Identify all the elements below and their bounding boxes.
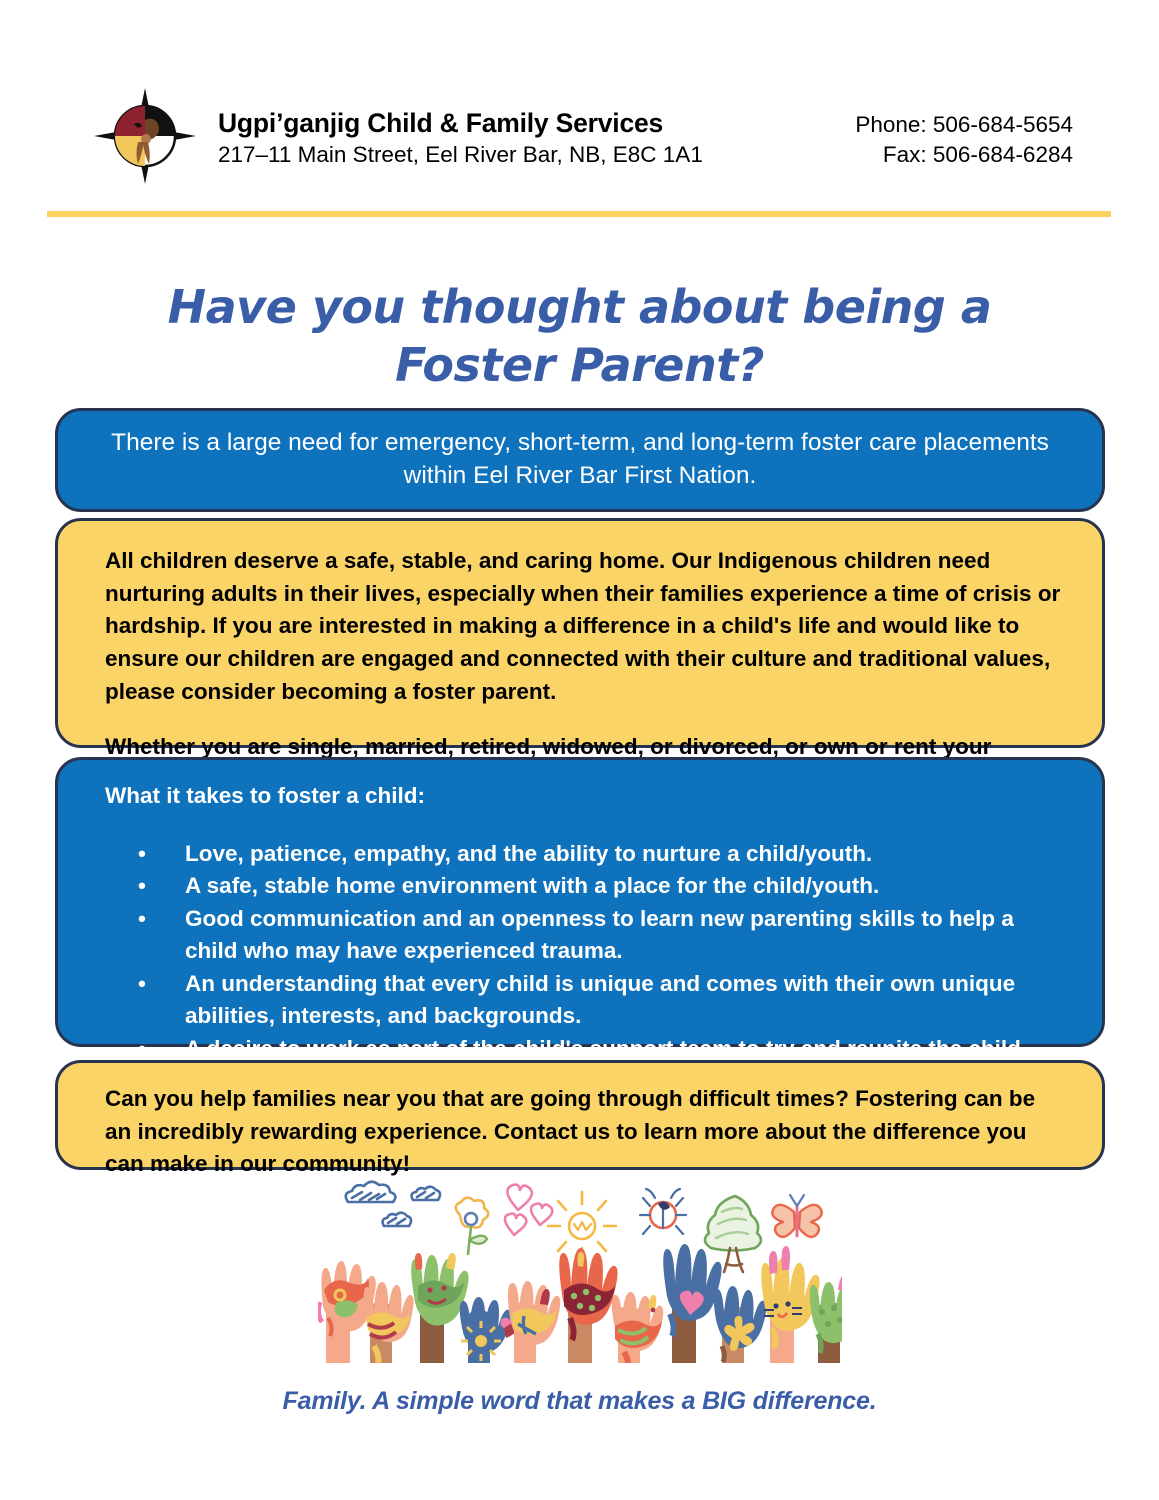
description-paragraph-1: All children deserve a safe, stable, and… [105,545,1062,708]
ladybug-icon [640,1189,686,1234]
heart-icon [505,1214,526,1236]
raised-hand [559,1248,617,1363]
heart-icon [531,1204,552,1226]
raised-hand [810,1275,842,1363]
medicine-wheel-logo [90,86,200,186]
call-to-action-text: Can you help families near you that are … [105,1083,1062,1181]
description-panel: All children deserve a safe, stable, and… [55,518,1105,748]
list-item: • A safe, stable home environment with a… [138,870,1062,902]
organization-address: 217–11 Main Street, Eel River Bar, NB, E… [218,141,703,169]
need-statement-text: There is a large need for emergency, sho… [102,427,1058,493]
fax-number: Fax: 506-684-6284 [855,140,1073,170]
organization-name: Ugpi’ganjig Child & Family Services [218,108,703,139]
tagline: Family. A simple word that makes a BIG d… [0,1387,1159,1416]
tree-icon [705,1196,761,1272]
bullet-icon: • [138,838,146,870]
heart-icon [507,1185,531,1210]
raised-hand [460,1297,517,1363]
header-divider-rule [47,211,1111,217]
bullet-icon: • [138,968,146,1000]
requirements-list: • Love, patience, empathy, and the abili… [105,838,1062,1098]
hands-group [318,1244,842,1363]
bullet-icon: • [138,903,146,935]
list-item-label: Good communication and an openness to le… [185,906,1014,963]
cloud-icon [346,1182,396,1202]
cloud-icon [412,1187,441,1200]
cloud-icon [383,1213,412,1226]
call-to-action-panel: Can you help families near you that are … [55,1060,1105,1170]
raised-painted-hands-illustration [318,1178,842,1363]
bullet-icon: • [138,870,146,902]
requirements-panel: What it takes to foster a child: • Love,… [55,757,1105,1047]
list-item-label: An understanding that every child is uni… [185,971,1015,1028]
list-item: • Love, patience, empathy, and the abili… [138,838,1062,870]
page-title: Have you thought about being a Foster Pa… [0,279,1159,395]
raised-hand [714,1286,767,1363]
page-title-line-2: Foster Parent? [0,337,1159,395]
phone-number: Phone: 506-684-5654 [855,110,1073,140]
org-identity: Ugpi’ganjig Child & Family Services 217–… [218,86,703,169]
raised-hand [663,1244,721,1363]
logo-container [80,86,210,186]
raised-hand [500,1281,560,1363]
list-item-label: Love, patience, empathy, and the ability… [185,841,872,866]
butterfly-icon [772,1195,821,1237]
page-header: Ugpi’ganjig Child & Family Services 217–… [0,86,1159,186]
need-statement-panel: There is a large need for emergency, sho… [55,408,1105,512]
raised-hand [364,1282,414,1363]
list-item: • An understanding that every child is u… [138,968,1062,1032]
list-item-label: A safe, stable home environment with a p… [185,873,879,898]
requirements-title: What it takes to foster a child: [105,780,1062,812]
page-title-line-1: Have you thought about being a [168,280,992,334]
contact-info: Phone: 506-684-5654 Fax: 506-684-6284 [855,86,1073,169]
raised-hand [612,1292,664,1363]
list-item: • Good communication and an openness to … [138,903,1062,967]
flower-icon [456,1198,489,1254]
